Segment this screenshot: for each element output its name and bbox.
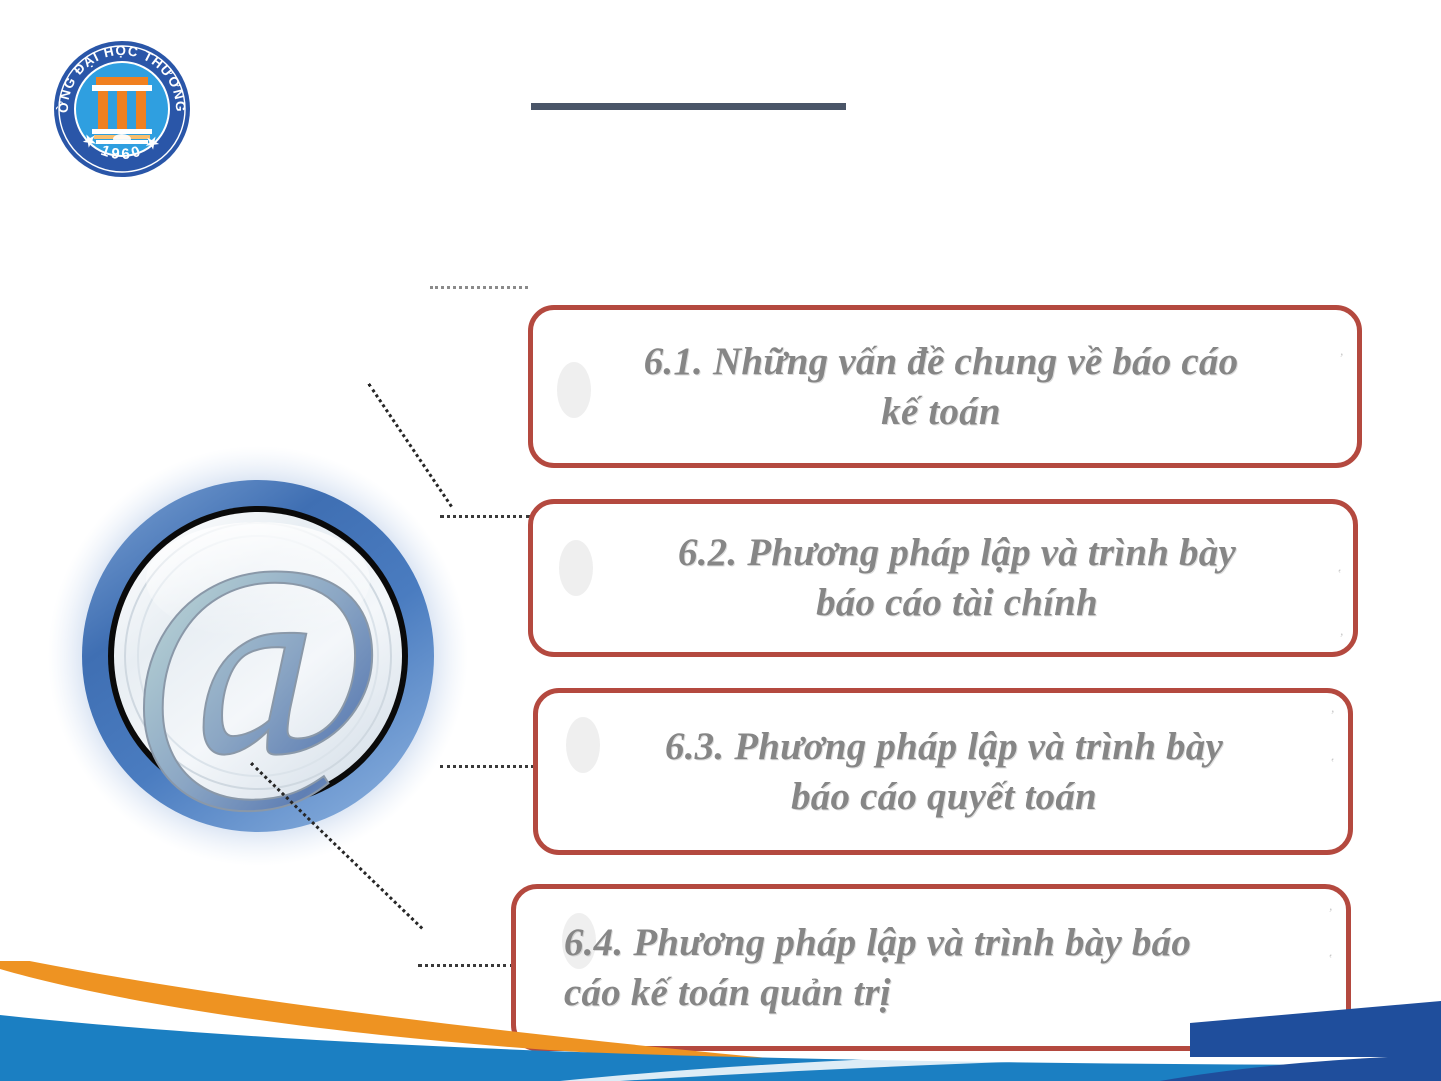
- edge-artifact: ʼ: [1330, 707, 1334, 723]
- topic-box-6-3[interactable]: 6.3. Phương pháp lập và trình bày báo cá…: [533, 688, 1353, 855]
- topic-box-6-1[interactable]: 6.1. Những vấn đề chung về báo cáo kế to…: [528, 305, 1362, 468]
- slide-canvas: TRƯỜNG ĐẠI HỌC THƯƠNG MẠI ★ 1960 ★: [0, 0, 1441, 1081]
- topic-box-6-4-text: 6.4. Phương pháp lập và trình bày báo cá…: [516, 918, 1346, 1018]
- connector-line-box4: [418, 964, 514, 967]
- topic-box-6-2[interactable]: 6.2. Phương pháp lập và trình bày báo cá…: [528, 499, 1358, 657]
- topic-6-3-line1: 6.3. Phương pháp lập và trình bày: [665, 725, 1223, 768]
- topic-6-2-line2: báo cáo tài chính: [816, 581, 1098, 624]
- topic-6-3-line2: báo cáo quyết toán: [791, 775, 1097, 818]
- topic-6-2-line1: 6.2. Phương pháp lập và trình bày: [678, 531, 1236, 574]
- topic-6-1-line2: kế toán: [881, 390, 1001, 433]
- university-logo: TRƯỜNG ĐẠI HỌC THƯƠNG MẠI ★ 1960 ★: [46, 31, 198, 186]
- connector-line-box2: [440, 515, 530, 518]
- topic-box-6-2-text: 6.2. Phương pháp lập và trình bày báo cá…: [533, 528, 1353, 628]
- topic-box-6-4[interactable]: 6.4. Phương pháp lập và trình bày báo cá…: [511, 884, 1351, 1051]
- topic-6-4-line1: 6.4. Phương pháp lập và trình bày báo: [564, 921, 1191, 964]
- connector-line-top: [430, 286, 528, 289]
- topic-box-6-3-text: 6.3. Phương pháp lập và trình bày báo cá…: [538, 722, 1348, 822]
- edge-artifact: ʼ: [1339, 630, 1343, 646]
- topic-box-6-1-text: 6.1. Những vấn đề chung về báo cáo kế to…: [533, 337, 1357, 437]
- connector-line-box3: [440, 765, 534, 768]
- title-underline-rule: [531, 103, 846, 110]
- topic-6-1-line1: 6.1. Những vấn đề chung về báo cáo: [644, 340, 1239, 383]
- topic-6-4-line2: cáo kế toán quản trị: [564, 971, 891, 1014]
- at-symbol-icon: @: [42, 440, 474, 872]
